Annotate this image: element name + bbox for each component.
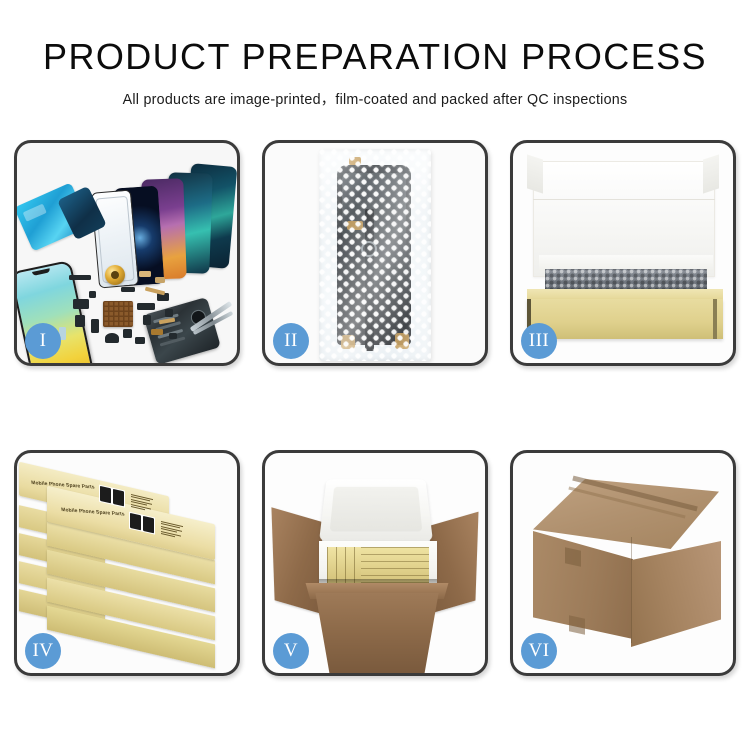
carton-tape-patch xyxy=(569,615,585,634)
spare-part xyxy=(75,315,85,327)
box-lid-crease xyxy=(533,199,715,200)
process-step-3: III xyxy=(510,140,736,366)
spare-part xyxy=(121,287,135,292)
product-thumbnail xyxy=(130,513,141,531)
spare-part xyxy=(73,299,89,309)
process-step-2: II xyxy=(262,140,488,366)
box-tray-front xyxy=(527,299,723,339)
step-badge-5: V xyxy=(273,633,309,669)
spare-part xyxy=(143,315,151,325)
box-tray-edge-right xyxy=(713,299,717,339)
step-badge-6: VI xyxy=(521,633,557,669)
spare-part xyxy=(135,337,145,344)
box-label-spec-lines xyxy=(161,521,183,539)
bubble-wrap-bag xyxy=(319,149,431,361)
step-badge-1: I xyxy=(25,323,61,359)
step-badge-4: IV xyxy=(25,633,61,669)
carton-corner-edge xyxy=(631,537,632,643)
box-lid-flap-left xyxy=(527,154,543,193)
carton-side-face xyxy=(631,541,721,647)
page-title: PRODUCT PREPARATION PROCESS xyxy=(0,38,750,76)
spare-part xyxy=(139,271,151,277)
step-badge-2: II xyxy=(273,323,309,359)
spare-part xyxy=(165,309,173,317)
speaker-component xyxy=(105,265,125,285)
step-badge-3: III xyxy=(521,323,557,359)
product-thumbnail xyxy=(113,489,124,507)
spare-part xyxy=(91,319,99,333)
process-step-grid: I II xyxy=(14,140,736,676)
carton-front xyxy=(307,593,447,673)
spare-part xyxy=(169,333,177,339)
carton-tape-patch xyxy=(565,547,581,566)
spare-part xyxy=(137,303,155,310)
spare-part xyxy=(105,333,119,343)
box-label-spec-lines xyxy=(131,494,153,512)
header: PRODUCT PREPARATION PROCESS All products… xyxy=(0,0,750,109)
product-thumbnail xyxy=(100,486,111,504)
process-step-6: VI xyxy=(510,450,736,676)
spare-part xyxy=(151,329,163,335)
ribbon-cable xyxy=(145,287,165,296)
foam-box-lid xyxy=(319,479,433,540)
spare-part xyxy=(69,275,91,280)
packed-inner-boxes xyxy=(327,547,429,583)
spare-part xyxy=(89,291,96,298)
process-step-1: I xyxy=(14,140,240,366)
product-preparation-infographic: PRODUCT PREPARATION PROCESS All products… xyxy=(0,0,750,750)
ic-chip-component xyxy=(103,301,133,327)
box-lid-flap-right xyxy=(703,154,719,193)
process-step-5: V xyxy=(262,450,488,676)
plastic-sheen xyxy=(319,149,431,361)
process-step-4: Mobile Phone Spare Parts xyxy=(14,450,240,676)
product-thumbnail xyxy=(143,516,154,534)
spare-part xyxy=(155,277,165,283)
spare-part xyxy=(123,329,132,338)
page-subtitle: All products are image-printed，film-coat… xyxy=(0,88,750,109)
